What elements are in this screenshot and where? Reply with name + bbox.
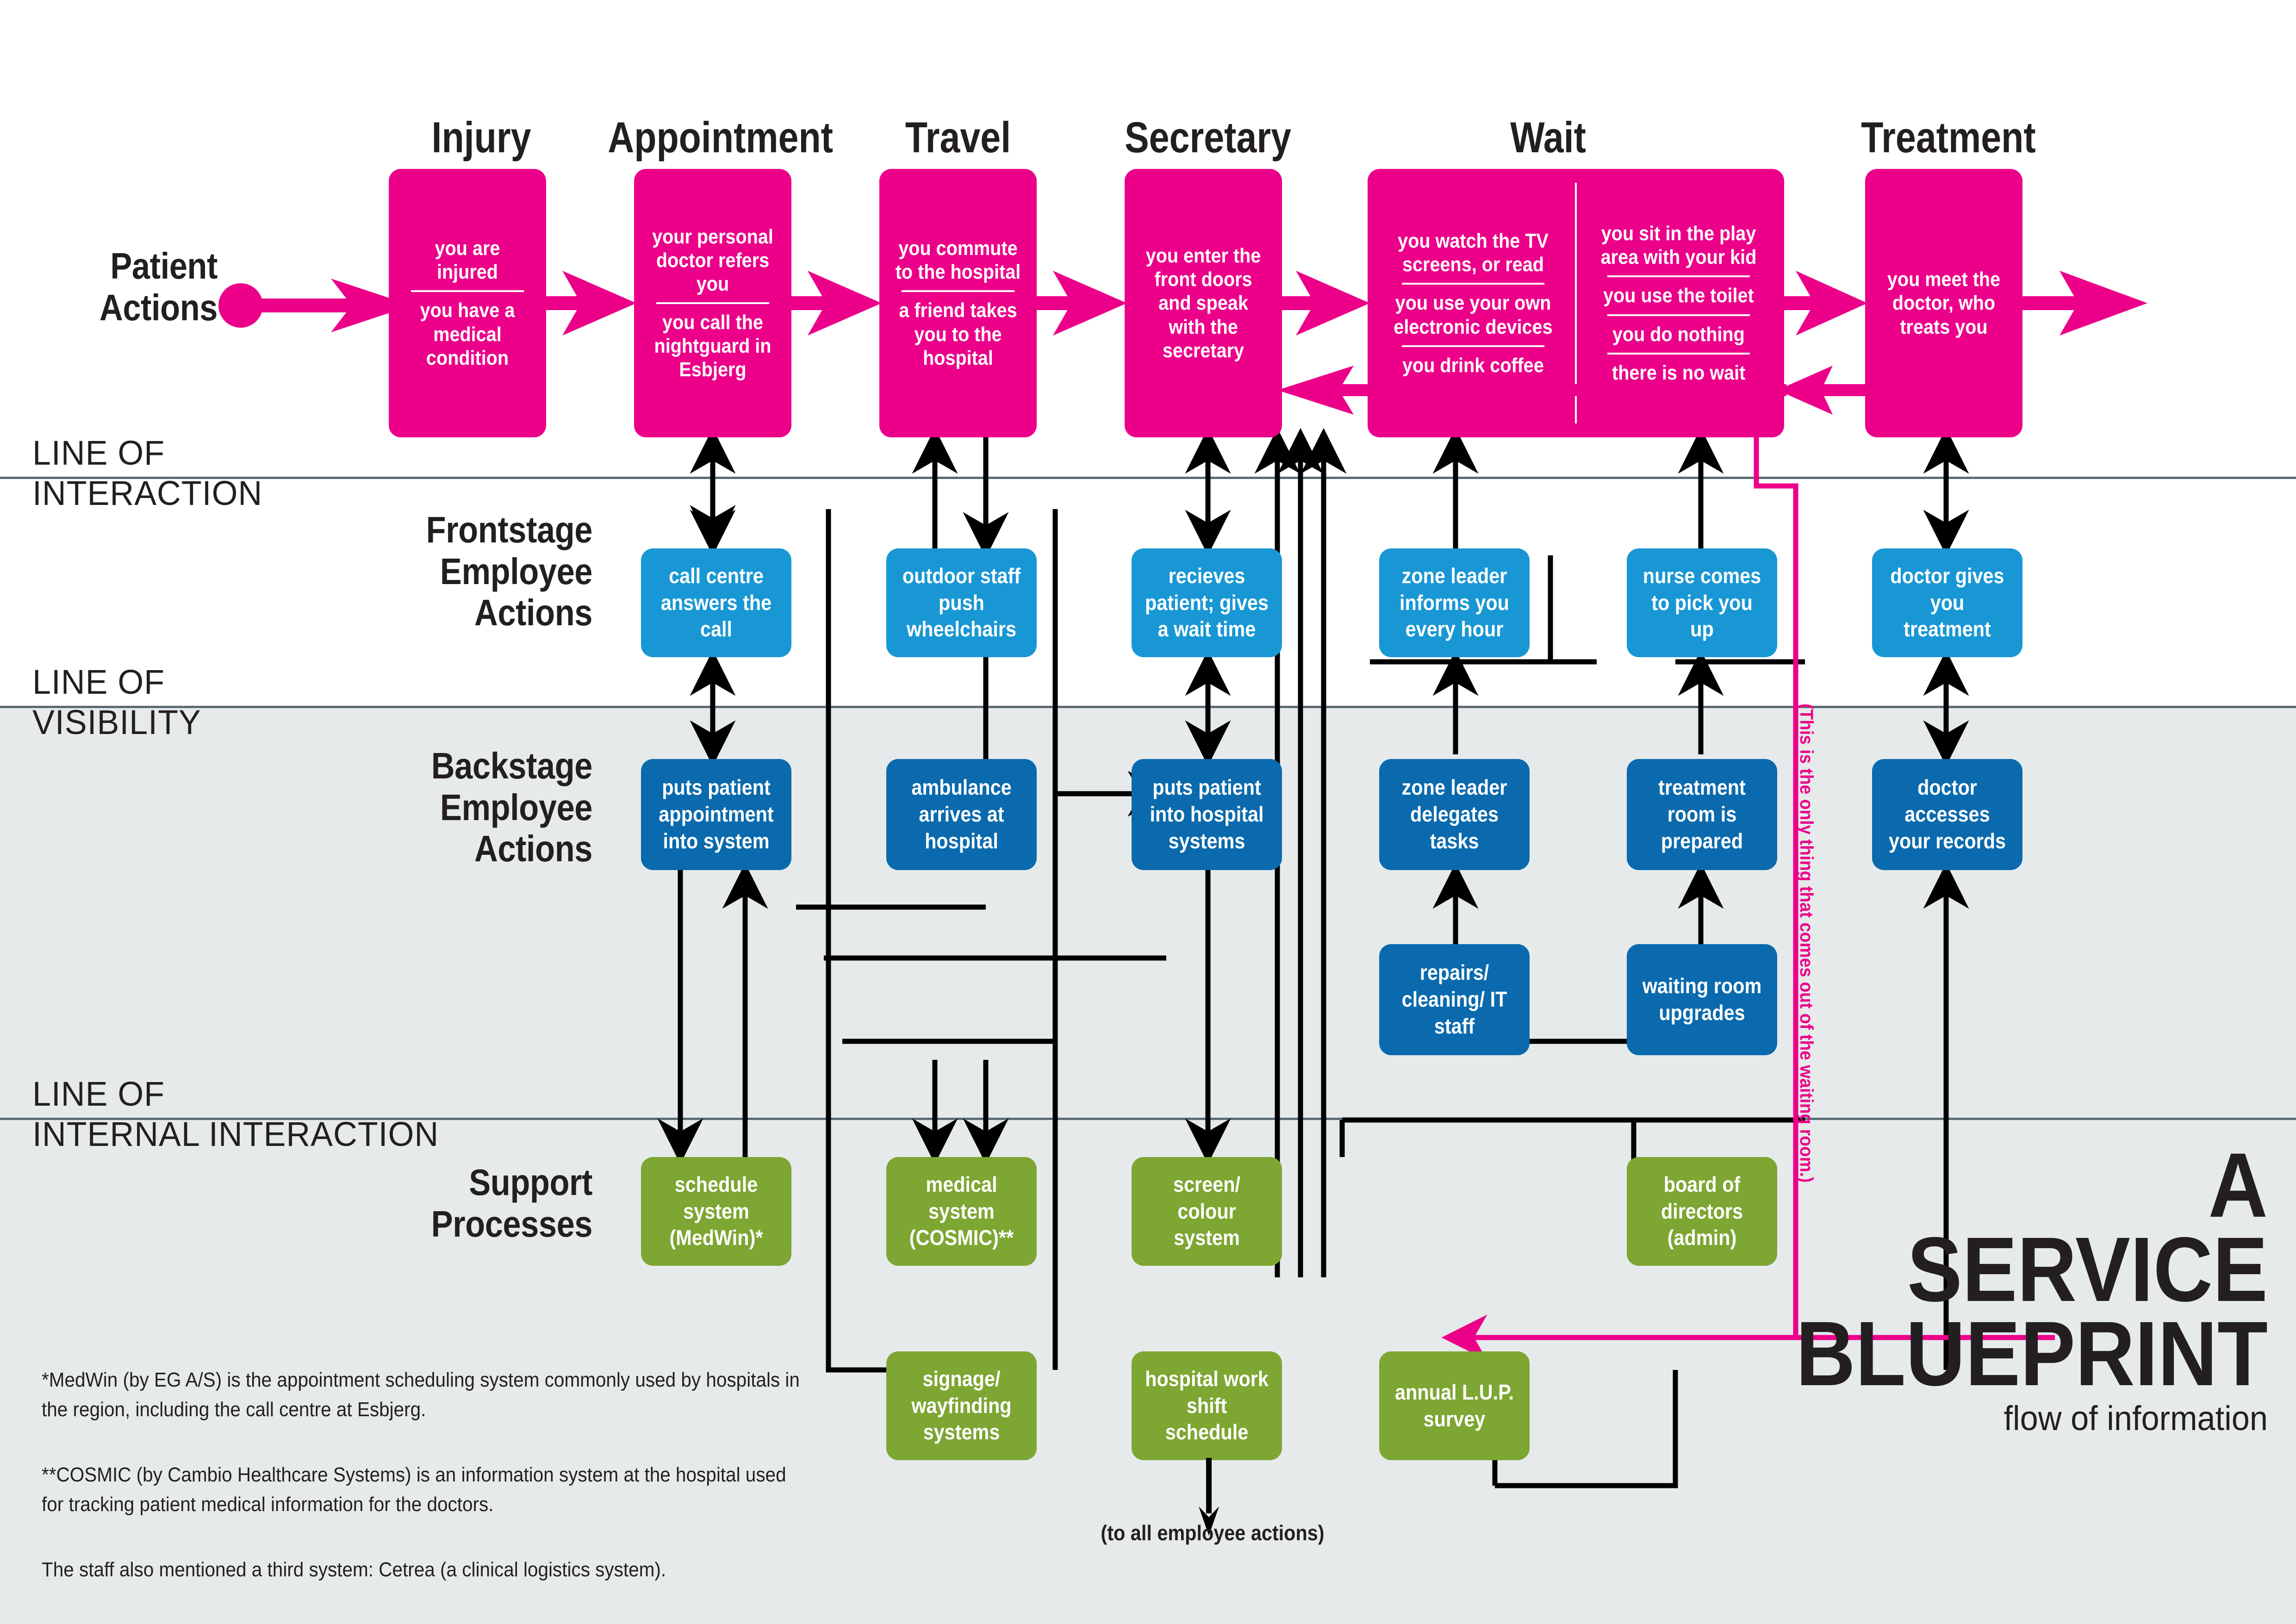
patient-wait-r3: you do nothing (1606, 319, 1752, 350)
backstage-box-ambulance[interactable]: ambulance arrives at hospital (886, 759, 1037, 870)
patient-box-injury[interactable]: you are injured you have a medical condi… (389, 169, 546, 437)
annotation-waiting-room-note: (This is the only thing that comes out o… (1796, 703, 1817, 1182)
support-label: schedule system (MedWin)* (648, 1167, 784, 1257)
support-box-schedule-system[interactable]: schedule system (MedWin)* (641, 1157, 791, 1266)
patient-box-wait[interactable]: you watch the TV screens, or read you us… (1368, 169, 1784, 437)
frontstage-label: call centre answers the call (648, 558, 784, 648)
patient-box-appointment[interactable]: your personal doctor refers you you call… (634, 169, 791, 437)
patient-appointment-item-2: you call the nightguard in Esbjerg (642, 307, 784, 385)
patient-wait-r4: there is no wait (1605, 357, 1752, 388)
support-label: hospital work shift schedule (1139, 1361, 1275, 1451)
frontstage-box-zone-leader-informs[interactable]: zone leader informs you every hour (1379, 548, 1530, 657)
footnote-cosmic: **COSMIC (by Cambio Healthcare Systems) … (42, 1460, 808, 1519)
support-box-screen-colour-system[interactable]: screen/ colour system (1132, 1157, 1282, 1266)
support-box-hospital-work-shift[interactable]: hospital work shift schedule (1132, 1351, 1282, 1460)
frontstage-box-outdoor-staff[interactable]: outdoor staff push wheelchairs (886, 548, 1037, 657)
divider (411, 290, 524, 292)
patient-wait-column-left: you watch the TV screens, or read you us… (1374, 225, 1572, 380)
patient-box-secretary[interactable]: you enter the front doors and speak with… (1125, 169, 1282, 437)
divider-vertical (1575, 183, 1577, 423)
frontstage-label: nurse comes to pick you up (1634, 558, 1770, 648)
frontstage-box-recieves-patient[interactable]: recieves patient; gives a wait time (1132, 548, 1282, 657)
patient-secretary-item-1: you enter the front doors and speak with… (1132, 240, 1274, 366)
backstage-label: puts patient into hospital systems (1139, 770, 1275, 859)
divider (1607, 353, 1750, 355)
title-subtitle: flow of information (1696, 1400, 2268, 1437)
backstage-box-puts-hospital-systems[interactable]: puts patient into hospital systems (1132, 759, 1282, 870)
frontstage-box-nurse-pickup[interactable]: nurse comes to pick you up (1627, 548, 1777, 657)
divider (1402, 283, 1544, 285)
backstage-label: ambulance arrives at hospital (894, 770, 1029, 859)
backstage-label: treatment room is prepared (1634, 770, 1770, 859)
divider (1607, 275, 1750, 277)
title-line-2: SERVICE (1726, 1227, 2268, 1312)
support-label: medical system (COSMIC)** (894, 1167, 1029, 1257)
frontstage-label: doctor gives you treatment (1879, 558, 2015, 648)
backstage-box-puts-appointment[interactable]: puts patient appointment into system (641, 759, 791, 870)
divider (656, 302, 770, 304)
patient-wait-r1: you sit in the play area with your kid (1589, 218, 1767, 273)
backstage-box-zone-leader-delegates[interactable]: zone leader delegates tasks (1379, 759, 1530, 870)
frontstage-label: zone leader informs you every hour (1387, 558, 1522, 648)
patient-injury-item-1: you are injured (397, 233, 538, 287)
backstage-box-repairs-cleaning-it[interactable]: repairs/ cleaning/ IT staff (1379, 944, 1530, 1055)
service-blueprint-canvas: Patient Actions Frontstage Employee Acti… (0, 0, 2296, 1624)
frontstage-label: outdoor staff push wheelchairs (894, 558, 1029, 648)
backstage-label: doctor accesses your records (1879, 770, 2015, 859)
support-label: annual L.U.P. survey (1387, 1375, 1522, 1437)
patient-appointment-item-1: your personal doctor refers you (642, 221, 784, 299)
frontstage-box-doctor-treatment[interactable]: doctor gives you treatment (1872, 548, 2022, 657)
backstage-box-waiting-room-upgrades[interactable]: waiting room upgrades (1627, 944, 1777, 1055)
footnote-cetrea: The staff also mentioned a third system:… (42, 1555, 808, 1585)
caption-all-employee-actions: (to all employee actions) (1067, 1520, 1358, 1545)
patient-wait-l3: you drink coffee (1396, 350, 1551, 381)
frontstage-box-call-centre[interactable]: call centre answers the call (641, 548, 791, 657)
backstage-label: puts patient appointment into system (648, 770, 784, 859)
frontstage-label: recieves patient; gives a wait time (1139, 558, 1275, 648)
patient-travel-item-1: you commute to the hospital (887, 233, 1029, 287)
backstage-label: zone leader delegates tasks (1387, 770, 1522, 859)
support-box-medical-system[interactable]: medical system (COSMIC)** (886, 1157, 1037, 1266)
patient-injury-item-2: you have a medical condition (397, 295, 538, 373)
patient-box-travel[interactable]: you commute to the hospital a friend tak… (879, 169, 1037, 437)
patient-travel-item-2: a friend takes you to the hospital (887, 295, 1029, 373)
support-label: signage/ wayfinding systems (894, 1361, 1029, 1451)
patient-wait-l1: you watch the TV screens, or read (1384, 225, 1562, 280)
support-box-signage-wayfinding[interactable]: signage/ wayfinding systems (886, 1351, 1037, 1460)
patient-wait-l2: you use your own electronic devices (1384, 287, 1562, 342)
divider (1402, 345, 1544, 347)
patient-treatment-item-1: you meet the doctor, who treats you (1873, 264, 2015, 342)
patient-journey-start-arrow (218, 278, 412, 333)
support-box-annual-lup-survey[interactable]: annual L.U.P. survey (1379, 1351, 1530, 1460)
title-line-1: A (1726, 1143, 2268, 1227)
divider (902, 290, 1015, 292)
patient-box-treatment[interactable]: you meet the doctor, who treats you (1865, 169, 2022, 437)
patient-wait-r2: you use the toilet (1597, 280, 1761, 311)
backstage-box-treatment-room[interactable]: treatment room is prepared (1627, 759, 1777, 870)
footnote-medwin: *MedWin (by EG A/S) is the appointment s… (42, 1365, 808, 1425)
backstage-box-doctor-records[interactable]: doctor accesses your records (1872, 759, 2022, 870)
title-line-3: BLUEPRINT (1726, 1312, 2268, 1396)
support-label: screen/ colour system (1139, 1167, 1275, 1257)
backstage-label: waiting room upgrades (1634, 968, 1770, 1031)
backstage-label: repairs/ cleaning/ IT staff (1387, 955, 1522, 1045)
patient-wait-column-right: you sit in the play area with your kid y… (1580, 218, 1778, 388)
divider (1607, 314, 1750, 316)
title-block: A SERVICE BLUEPRINT flow of information (1666, 1143, 2268, 1437)
